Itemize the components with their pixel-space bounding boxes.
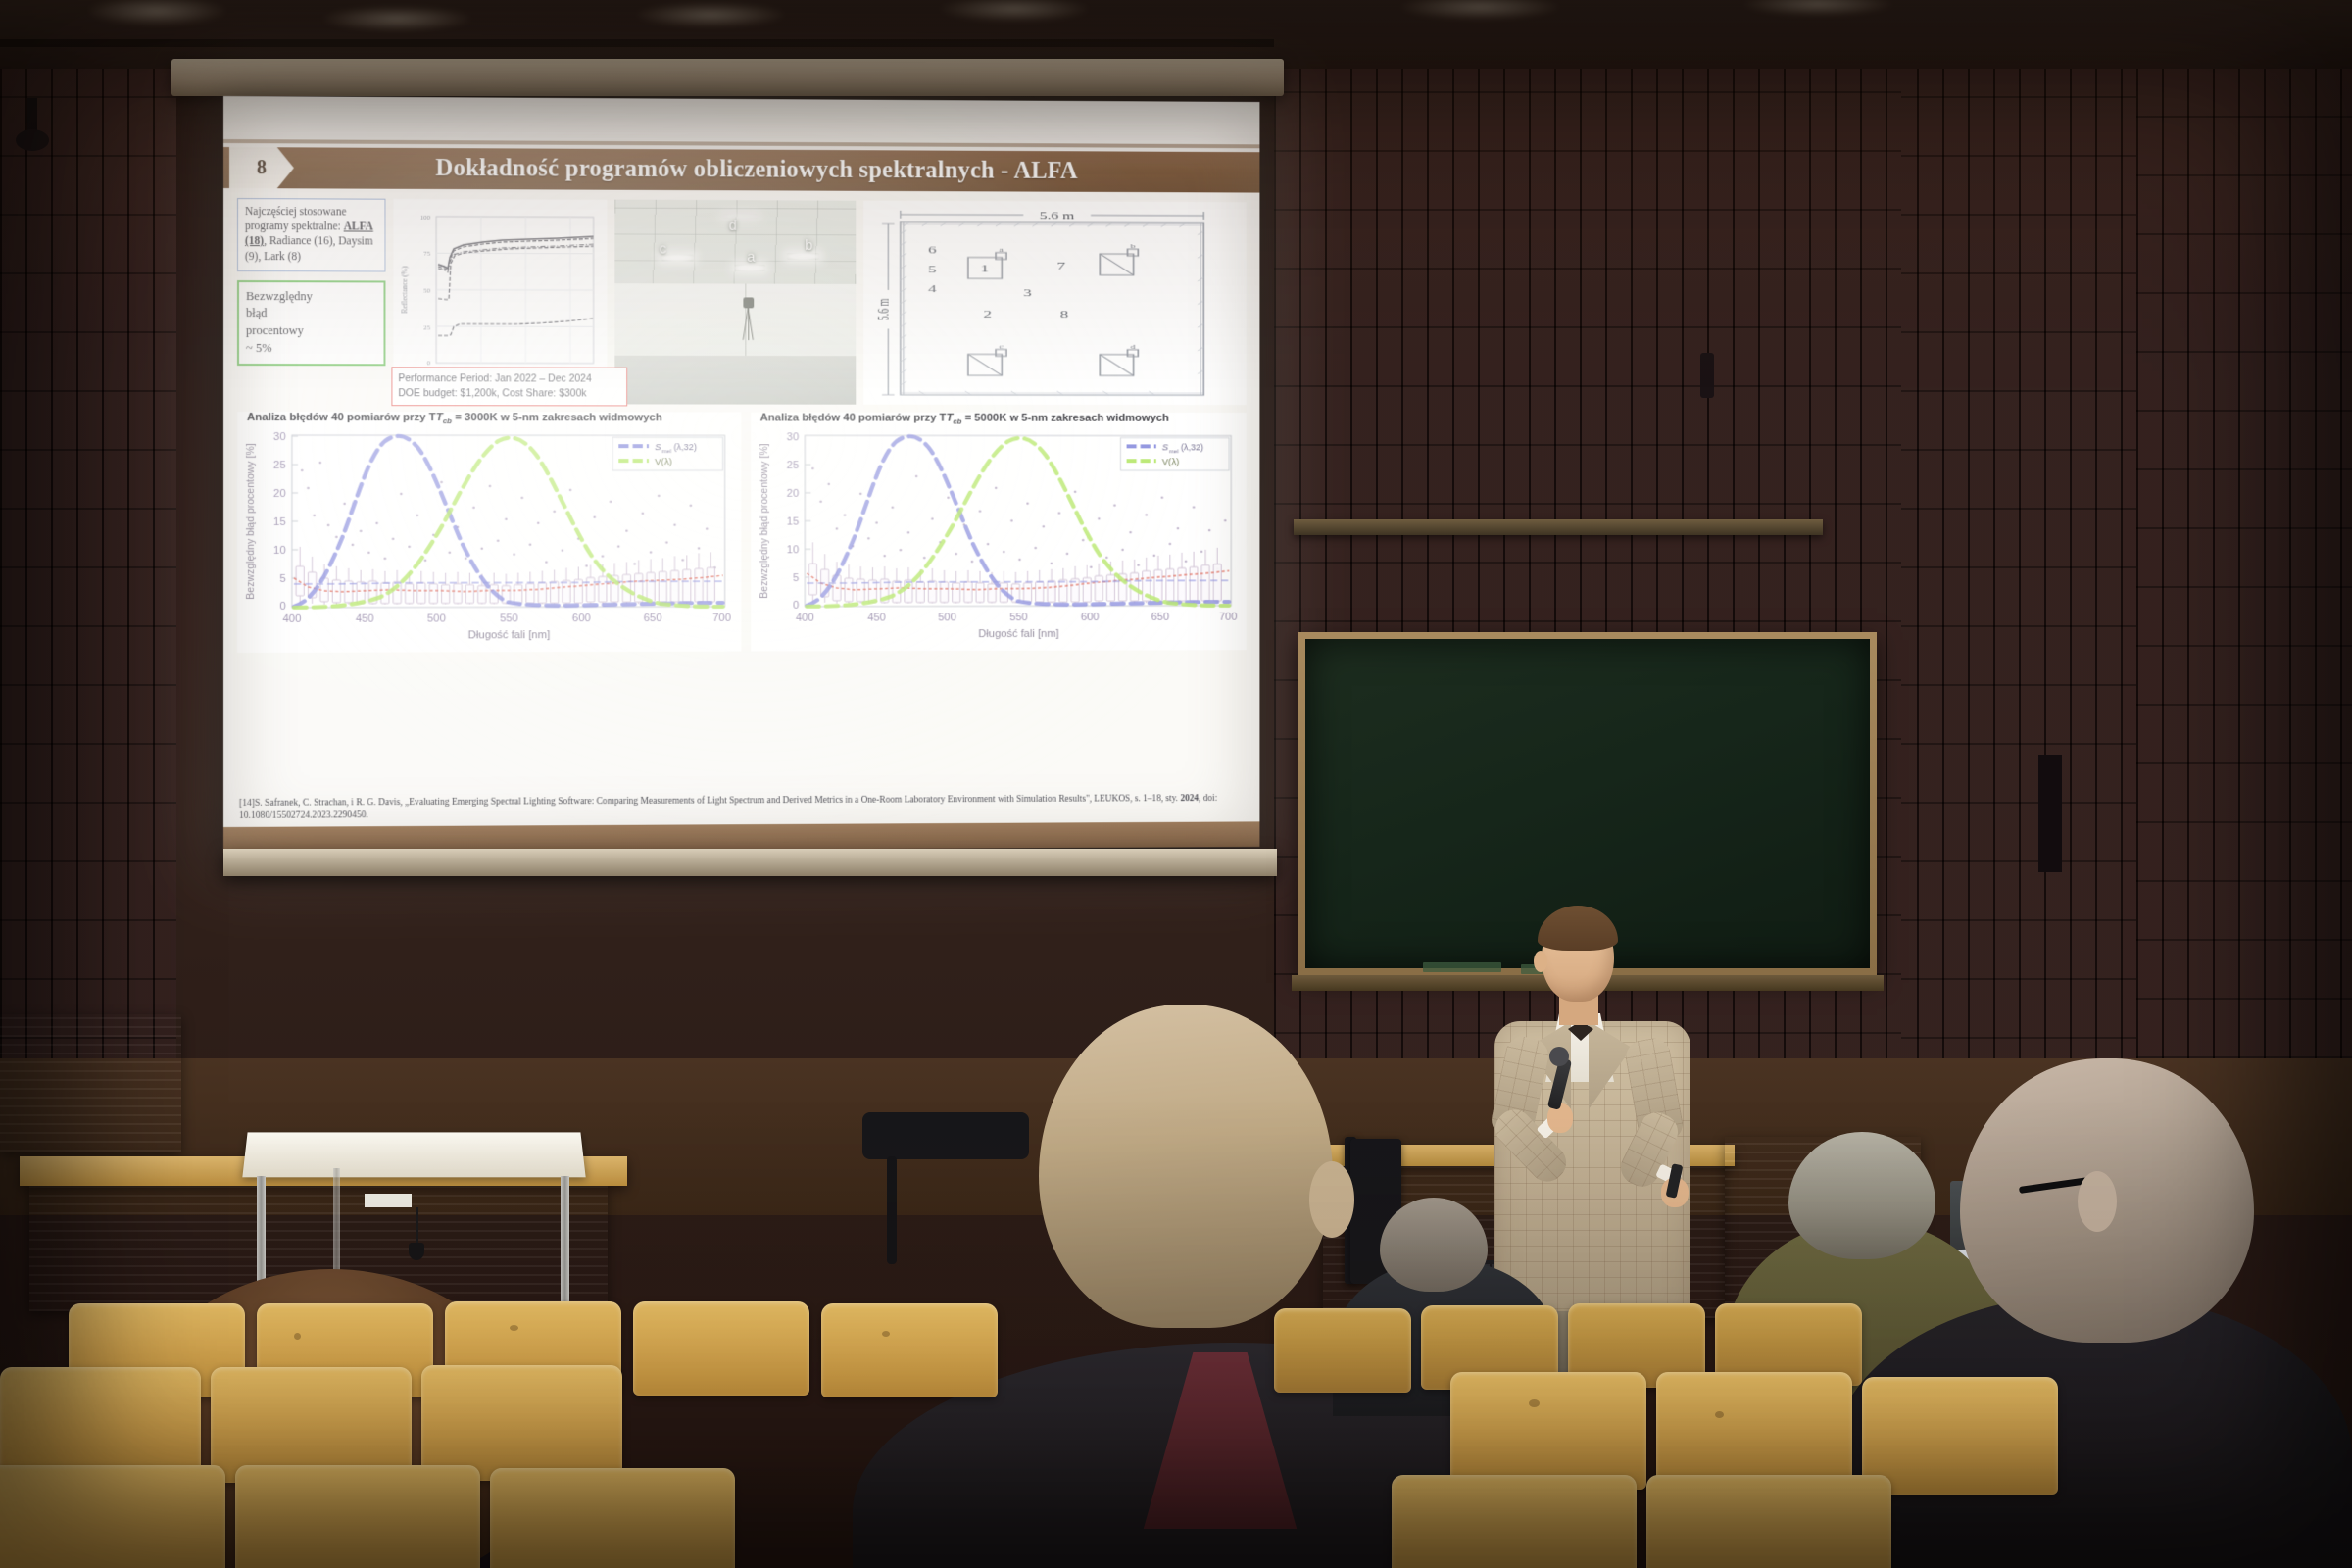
seat[interactable] (1274, 1308, 1411, 1393)
seat[interactable] (1646, 1475, 1891, 1568)
seat[interactable] (821, 1303, 998, 1397)
plan-luminaire-a: a (999, 246, 1004, 253)
presentation-slide: 8 Dokładność programów obliczeniowych sp… (223, 96, 1259, 853)
room-plan-svg: 5.6 m 5.6 m (863, 201, 1247, 405)
svg-text:700: 700 (1219, 612, 1237, 623)
door-frame-right (2038, 755, 2062, 872)
chart-3000k-ylabel: Bezwzględny błąd procentowy [%] (244, 443, 256, 599)
luminaire-label-a: a (747, 249, 755, 266)
photo-walls (614, 283, 856, 360)
svg-text:25: 25 (273, 460, 286, 471)
demo-table-apparatus (365, 1194, 412, 1207)
plan-point-4: 4 (928, 283, 937, 295)
budget-info-box: Performance Period: Jan 2022 – Dec 2024 … (391, 367, 627, 406)
error-line2: błąd (246, 305, 377, 322)
room-photo-canvas: d c a b (614, 200, 856, 405)
photo-floor (614, 355, 856, 404)
slide-citation: [14]S. Safranek, C. Strachan, i R. G. Da… (239, 793, 1245, 823)
budget-line2: DOE budget: $1,200k, Cost Share: $300k (398, 386, 620, 401)
plan-point-7: 7 (1057, 261, 1066, 272)
citation-ref: [14] (239, 798, 255, 808)
room-plan-diagram: 5.6 m 5.6 m (863, 201, 1247, 405)
wall-panel-right-upper (1294, 519, 1823, 535)
seat-wear-mark (1715, 1411, 1724, 1418)
svg-text:600: 600 (572, 612, 591, 624)
svg-text:650: 650 (644, 612, 662, 624)
svg-text:600: 600 (1081, 612, 1100, 623)
seat[interactable] (1656, 1372, 1852, 1490)
chart-5000k-svg: 30 25 20 15 10 5 0 (751, 429, 1247, 651)
error-line4: ~ 5% (246, 340, 377, 358)
chart-5000k: Analiza błędów 40 pomiarów przy TTcb = 5… (751, 413, 1247, 652)
seat[interactable] (490, 1468, 735, 1568)
svg-text:50: 50 (423, 287, 430, 295)
chart-5000k-sub: cb (953, 417, 961, 426)
seat[interactable] (1862, 1377, 2058, 1494)
budget-line1: Performance Period: Jan 2022 – Dec 2024 (398, 371, 620, 386)
svg-text:20: 20 (786, 488, 798, 500)
wall-upper-right (2136, 0, 2352, 1176)
chart-5000k-ylabel: Bezwzględny błąd procentowy [%] (758, 444, 769, 599)
seat[interactable] (1392, 1475, 1637, 1568)
luminaire-label-b: b (805, 237, 812, 254)
audience-ear-center (1309, 1161, 1354, 1238)
svg-text:20: 20 (273, 488, 286, 500)
plan-point-1: 1 (980, 264, 989, 275)
slide-row-charts: Analiza błędów 40 pomiarów przy TTcb = 3… (237, 412, 1247, 653)
svg-text:30: 30 (786, 432, 798, 444)
seat[interactable] (235, 1465, 480, 1568)
seat[interactable] (1450, 1372, 1646, 1490)
svg-text:15: 15 (786, 516, 798, 528)
seat-wear-mark (510, 1325, 518, 1331)
luminaire-label-c: c (660, 241, 666, 258)
demo-table-top (242, 1132, 585, 1177)
svg-text:25: 25 (423, 323, 430, 331)
lecture-hall-photo: 8 Dokładność programów obliczeniowych sp… (0, 0, 2352, 1568)
svg-text:Reflectance (%): Reflectance (%) (400, 266, 409, 314)
plan-luminaire-c: c (999, 343, 1004, 350)
svg-text:V(λ): V(λ) (1161, 457, 1179, 467)
svg-text:0: 0 (427, 359, 431, 367)
plan-point-3: 3 (1023, 287, 1032, 299)
ceiling-light-2 (323, 6, 470, 31)
svg-text:400: 400 (795, 612, 813, 624)
projection-screen-housing (171, 59, 1284, 96)
plan-luminaire-b: b (1131, 242, 1136, 249)
programs-rest: , Radiance (16), Daysim (9), Lark (8) (245, 235, 373, 262)
plan-luminaire-d: d (1131, 343, 1137, 350)
wall-left (0, 0, 176, 1098)
projection-screen-bottom-bar (223, 849, 1277, 876)
slide-row-top: Najczęściej stosowane programy spektraln… (237, 198, 1247, 405)
svg-text:mel: mel (1168, 448, 1178, 455)
microphone-head (1549, 1047, 1569, 1066)
svg-text:(λ,32): (λ,32) (674, 442, 697, 452)
demo-table-pendant (416, 1207, 418, 1243)
chart-3000k-sub: cb (443, 416, 452, 425)
plan-point-2: 2 (984, 309, 993, 320)
ceiling-light-3 (637, 2, 784, 27)
tripod-head (743, 297, 754, 308)
presenter-hair (1538, 906, 1618, 951)
seat-wear-mark (294, 1333, 301, 1340)
bag-on-bench (862, 1112, 1029, 1159)
audience-ear-right-front (2078, 1171, 2117, 1232)
chart-3000k-title: Analiza błędów 40 pomiarów przy T (247, 412, 436, 423)
svg-text:550: 550 (500, 613, 518, 625)
chart-5000k-xlabel: Długość fali [nm] (978, 628, 1058, 640)
ceiling-beam (0, 39, 1274, 47)
svg-text:mel: mel (661, 448, 671, 455)
slide-title: Dokładność programów obliczeniowych spek… (294, 154, 1260, 185)
presenter-ear (1534, 951, 1547, 972)
svg-text:V(λ): V(λ) (655, 457, 672, 467)
chart-3000k-rest: = 3000K w 5-nm zakresach widmowych (452, 412, 662, 423)
wall-bracket (1700, 353, 1714, 398)
svg-text:500: 500 (427, 613, 446, 625)
chart-3000k-sym: T (436, 412, 443, 423)
chart-3000k: Analiza błędów 40 pomiarów przy TTcb = 3… (237, 412, 741, 653)
citation-text: S. Safranek, C. Strachan, i R. G. Davis,… (255, 793, 1180, 808)
seat-wear-mark (1529, 1399, 1540, 1407)
programs-info-box: Najczęściej stosowane programy spektraln… (237, 198, 385, 271)
slide-text-column: Najczęściej stosowane programy spektraln… (237, 198, 385, 404)
slide-title-band: 8 Dokładność programów obliczeniowych sp… (223, 147, 1259, 193)
svg-text:650: 650 (1151, 612, 1168, 623)
svg-text:S: S (655, 442, 661, 453)
luminaire-label-d: d (729, 218, 737, 234)
plan-point-8: 8 (1060, 309, 1069, 320)
seat-wear-mark (882, 1331, 890, 1337)
seat[interactable] (421, 1365, 622, 1481)
chart-5000k-legend: S mel (λ,32) V(λ) (1120, 438, 1229, 471)
seat[interactable] (633, 1301, 809, 1396)
programs-line1: Najczęściej stosowane (245, 206, 346, 218)
demo-table-leg-3 (333, 1168, 340, 1286)
citation-year: 2024 (1180, 793, 1199, 804)
slide-number-badge: 8 (229, 147, 294, 188)
svg-text:10: 10 (786, 545, 798, 557)
svg-text:30: 30 (273, 431, 286, 443)
chart-5000k-title: Analiza błędów 40 pomiarów przy T (760, 413, 947, 424)
svg-text:450: 450 (356, 613, 374, 625)
left-cabinet (0, 1014, 181, 1151)
svg-text:700: 700 (712, 612, 731, 624)
svg-text:S: S (1161, 443, 1168, 454)
absolute-error-box: Bezwzględny błąd procentowy ~ 5% (237, 280, 385, 366)
svg-text:100: 100 (420, 214, 431, 221)
svg-text:0: 0 (792, 600, 798, 612)
bag-handle (887, 1156, 897, 1264)
chart-3000k-xlabel: Długość fali [nm] (468, 629, 550, 641)
chart-5000k-rest: = 5000K w 5-nm zakresach widmowych (961, 413, 1168, 424)
luminaire-b (787, 253, 819, 260)
svg-text:500: 500 (938, 612, 956, 624)
svg-text:5: 5 (792, 572, 798, 584)
chart-3000k-svg: 30 25 20 15 10 5 0 (237, 429, 741, 653)
error-line1: Bezwzględny (246, 288, 377, 306)
plan-point-5: 5 (928, 264, 937, 275)
plan-point-6: 6 (928, 245, 937, 257)
audience-head-midleft (1380, 1198, 1488, 1292)
luminaire-a (735, 265, 765, 271)
chart-3000k-legend: S mel (λ,32) V(λ) (612, 437, 722, 470)
laboratory-room-photo: d c a b (614, 200, 856, 405)
svg-text:5: 5 (279, 573, 285, 585)
svg-text:450: 450 (867, 612, 886, 624)
projector-head (16, 129, 49, 151)
seat[interactable] (0, 1465, 225, 1568)
svg-text:10: 10 (273, 545, 286, 557)
svg-text:0: 0 (279, 601, 285, 612)
demo-table-weight (409, 1243, 424, 1260)
projection-screen: 8 Dokładność programów obliczeniowych sp… (223, 96, 1259, 853)
tripod-leg-3 (748, 307, 749, 340)
error-line3: procentowy (246, 322, 377, 340)
programs-line2: programy spektralne: (245, 220, 341, 232)
svg-text:25: 25 (786, 460, 798, 471)
svg-text:400: 400 (282, 613, 301, 625)
svg-text:15: 15 (273, 516, 286, 528)
audience-head-center (1039, 1004, 1333, 1328)
svg-text:(λ,32): (λ,32) (1180, 443, 1202, 453)
plan-depth-label: 5.6 m (874, 298, 892, 320)
svg-text:550: 550 (1009, 612, 1028, 623)
plan-width-label: 5.6 m (1040, 210, 1075, 220)
svg-text:75: 75 (423, 250, 430, 258)
